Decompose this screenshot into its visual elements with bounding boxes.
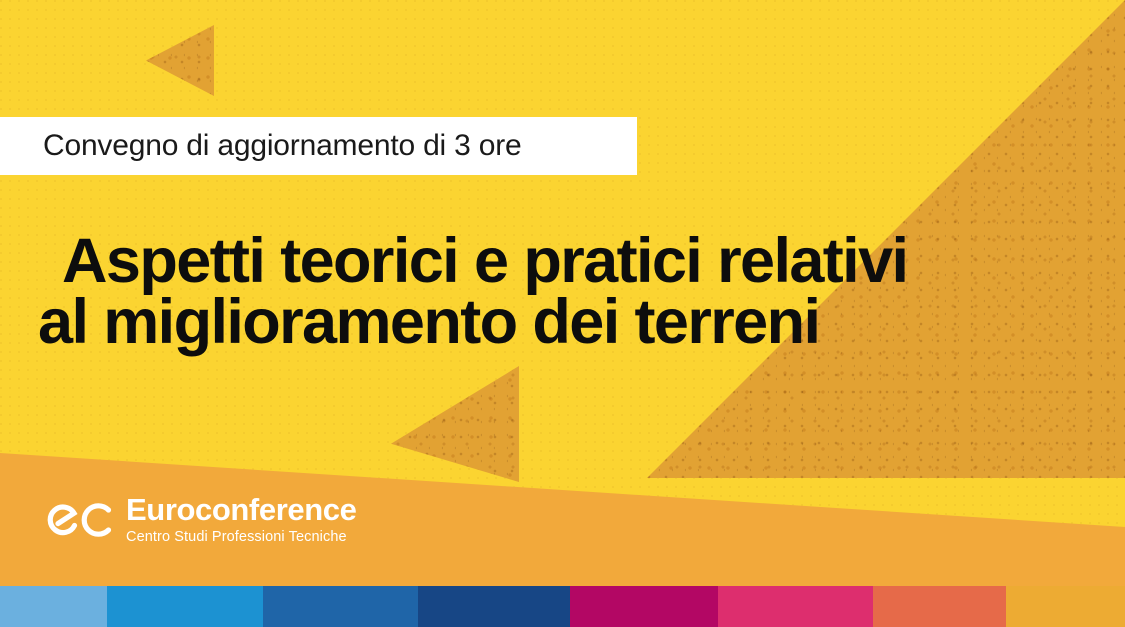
logo-tagline: Centro Studi Professioni Tecniche [126,529,356,546]
logo-name: Euroconference [126,494,356,527]
stripe-coral [873,586,1006,627]
headline-line-1: Aspetti teorici e pratici relativi [62,231,1098,292]
event-promo-banner: Convegno di aggiornamento di 3 ore Aspet… [0,0,1125,627]
stripe-medium-blue [263,586,418,627]
kicker-text: Convegno di aggiornamento di 3 ore [43,129,522,163]
page-title: Aspetti teorici e pratici relativi al mi… [38,231,1098,353]
stripe-magenta [570,586,718,627]
ec-monogram-icon [44,495,118,545]
logo-wordmark: Euroconference Centro Studi Professioni … [126,494,356,545]
stripe-blue [107,586,263,627]
stripe-gold [1006,586,1125,627]
stripe-navy [418,586,570,627]
kicker-band: Convegno di aggiornamento di 3 ore [0,117,637,175]
stripe-light-blue [0,586,107,627]
euroconference-logo: Euroconference Centro Studi Professioni … [44,494,356,545]
headline-line-2: al miglioramento dei terreni [38,292,1098,353]
stripe-pink [718,586,873,627]
brand-color-stripe-bar [0,586,1125,627]
